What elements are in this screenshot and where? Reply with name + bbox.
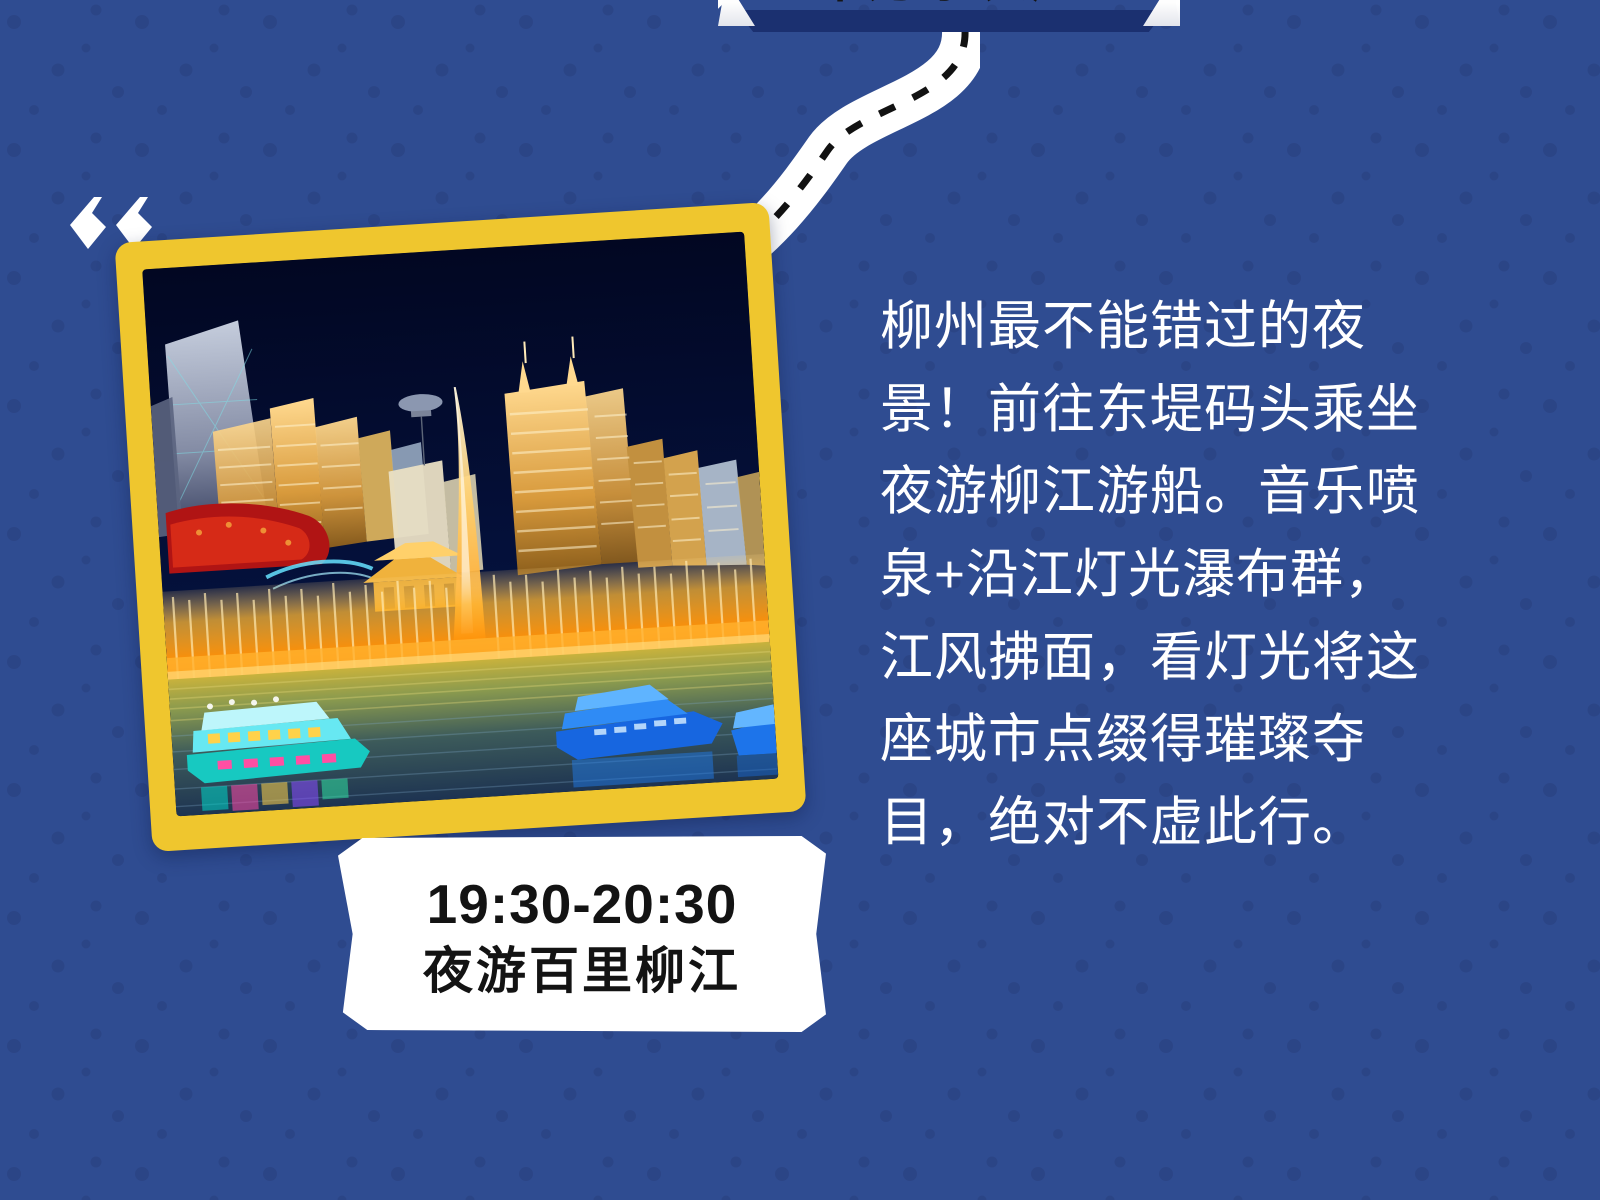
caption-title: 夜游百里柳江 — [423, 946, 741, 996]
caption-label: 19:30-20:30 夜游百里柳江 — [338, 836, 826, 1032]
description-line: 柳州最不能错过的夜 — [880, 286, 1520, 369]
liujiang-night-photo — [142, 232, 778, 817]
description-line: 夜游柳江游船。音乐喷 — [880, 451, 1520, 534]
description-text: 柳州最不能错过的夜 景！前往东堤码头乘坐 夜游柳江游船。音乐喷 泉+沿江灯光瀑布… — [880, 286, 1520, 865]
description-line: 江风拂面，看灯光将这 — [880, 617, 1520, 700]
description-line: 泉+沿江灯光瀑布群， — [880, 534, 1520, 617]
description-line: 目，绝对不虚此行。 — [880, 782, 1520, 865]
banner-shadow-bar — [736, 10, 1166, 32]
description-line: 景！前往东堤码头乘坐 — [880, 369, 1520, 452]
caption-time: 19:30-20:30 — [427, 877, 738, 932]
top-banner: 聚万家农庄 — [718, 0, 1180, 48]
photo-card[interactable] — [114, 202, 806, 852]
description-line: 座城市点缀得璀璨夺 — [880, 699, 1520, 782]
banner-title: 聚万家农庄 — [718, 0, 1180, 7]
